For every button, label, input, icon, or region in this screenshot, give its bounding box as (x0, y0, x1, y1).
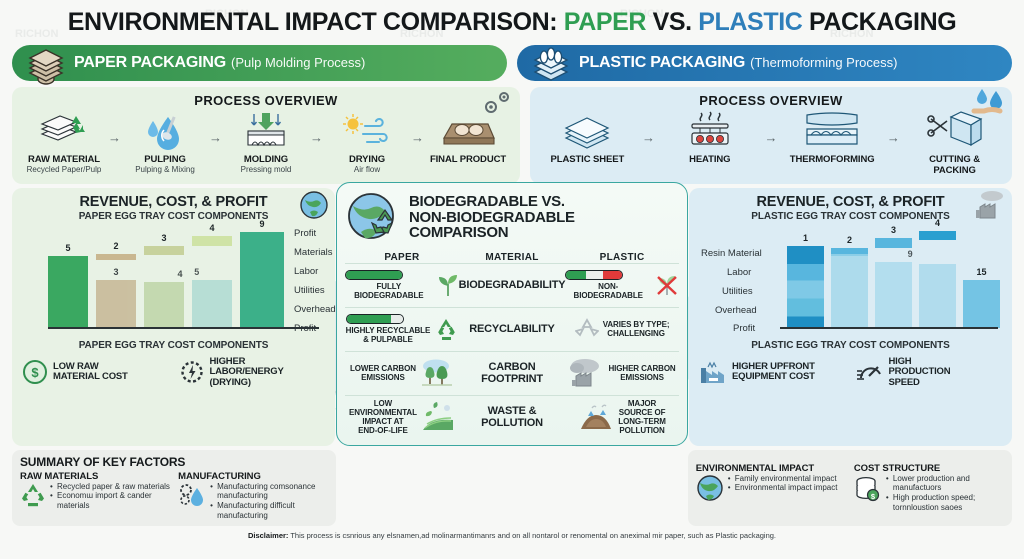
chart-bar: 15 (963, 280, 1000, 328)
plastic-revenue-panel: REVENUE, COST, & PROFIT PLASTIC EGG TRAY… (689, 188, 1012, 446)
material-label: RECYCLABILITY (459, 323, 565, 335)
legend-item: Resin Material (701, 248, 762, 259)
process-step: THERMOFORMING (788, 110, 876, 165)
plastic-cell-text: MAJOR SOURCE OF LONG-TERM POLLUTION (618, 399, 666, 436)
legend-item: Materials (294, 247, 333, 258)
comparison-row: FULLY BIODEGRADABLE BIODEGRADABILITY (345, 263, 679, 307)
summary-item: Manufacturing comsonance manufacturing (210, 482, 328, 502)
process-step-sub: Pressing mold (222, 165, 310, 174)
globe-icon (299, 190, 329, 220)
process-step-label: HEATING (666, 154, 754, 165)
bar-value: 4 (177, 269, 182, 279)
bar-value: 5 (65, 243, 70, 253)
plastic-feature-text: HIGH PRODUCTION SPEED (889, 357, 951, 389)
process-step: PULPING Pulping & Mixing (121, 110, 209, 174)
column-header-material: MATERIAL (459, 252, 565, 263)
column-header-paper: PAPER (345, 252, 459, 263)
process-step: RAW MATERIAL Recycled Paper/Pulp (20, 110, 108, 174)
paper-feature-text: LOW RAW MATERIAL COST (53, 362, 128, 383)
summary-item: Environmental impact impact (728, 483, 838, 493)
paper-revenue-heading: REVENUE, COST, & PROFIT (18, 194, 329, 210)
plastic-process-heading: PROCESS OVERVIEW (538, 93, 1004, 108)
comparison-row: LOW ENVIRONMENTAL IMPACT AT END-OF-LIFE … (345, 395, 679, 439)
plastic-chart-caption: PLASTIC EGG TRAY COST COMPONENTS (695, 340, 1006, 351)
summary-item: Economɯ import & cander materials (50, 491, 170, 511)
paper-cell-text: HIGHLY RECYCLABLE & PULPABLE (346, 326, 431, 344)
plastic-banner-subtitle: (Thermoforming Process) (750, 55, 897, 70)
process-step-label: CUTTING & PACKING (911, 154, 999, 176)
chart-bar: 4 (919, 231, 956, 240)
plastic-meter (565, 270, 623, 280)
title-part2: PACKAGING (802, 8, 956, 36)
title-paper: PAPER (564, 8, 646, 36)
arrow-icon: → (310, 110, 323, 145)
material-label: BIODEGRADABILITY (459, 279, 566, 291)
bar-value: 5 (194, 267, 199, 277)
bar-value: 9 (259, 219, 264, 229)
comparison-title-3: COMPARISON (409, 225, 575, 241)
chart-bar (919, 264, 956, 328)
egg-tray-stack-icon (24, 39, 68, 87)
bar-value: 15 (976, 267, 986, 277)
gears-drop-icon (178, 482, 206, 508)
bar-value: 2 (847, 235, 852, 245)
recycle-icon (434, 317, 458, 341)
speed-gauge-icon (856, 359, 884, 385)
middle-band: REVENUE, COST, & PROFIT PAPER EGG TRAY C… (0, 184, 1024, 446)
arrow-icon: → (764, 110, 777, 145)
comparison-card: BIODEGRADABLE VS. NON-BIODEGRADABLE COMP… (336, 182, 688, 446)
chart-bar: 4 (192, 236, 232, 246)
summary-group: ENVIRONMENTAL IMPACT Family environmenta… (696, 463, 846, 513)
legend-item: Utilities (722, 286, 753, 297)
legend-item: Profit (294, 323, 316, 334)
legend-item: Labor (727, 267, 751, 278)
heater-coils-icon (666, 110, 754, 154)
process-row: PROCESS OVERVIEW RAW MATERIAL (0, 81, 1024, 184)
process-step: PLASTIC SHEET (543, 110, 631, 165)
banner-row: PAPER PACKAGING (Pulp Molding Process) P… (0, 37, 1024, 81)
process-step-label: MOLDING (222, 154, 310, 165)
no-plant-icon (655, 273, 679, 297)
summary-row: SUMMARY OF KEY FACTORS RAW MATERIALS (0, 446, 1024, 526)
comparison-title-1: BIODEGRADABLE VS. (409, 194, 575, 210)
legend-item: Utilities (294, 285, 325, 296)
coin-stack-icon: $ (854, 474, 882, 502)
sun-airflow-icon (323, 110, 411, 154)
process-step-label: THERMOFORMING (788, 154, 876, 165)
legend-item: Labor (294, 266, 318, 277)
summary-group-heading: ENVIRONMENTAL IMPACT (696, 463, 846, 474)
press-mold-arrows-icon (222, 110, 310, 154)
plastic-process-panel: PROCESS OVERVIEW PLASTIC SHEET (530, 87, 1012, 184)
plastic-feature: HIGHER UPFRONT EQUIPMENT COST (699, 357, 846, 389)
chart-bar: 2 (96, 254, 136, 260)
process-step: HEATING (666, 110, 754, 165)
comparison-row: HIGHLY RECYCLABLE & PULPABLE (345, 307, 679, 351)
gear-energy-icon (179, 359, 205, 385)
paper-meter (346, 314, 404, 324)
gears-icon (480, 89, 514, 119)
paper-feature: $ LOW RAW MATERIAL COST (22, 357, 169, 389)
plastic-banner: PLASTIC PACKAGING (Thermoforming Process… (517, 45, 1012, 81)
paper-cell-text: LOWER CARBON EMISSIONS (350, 364, 416, 382)
title-mid: VS. (646, 8, 698, 36)
bar-value: 4 (209, 223, 214, 233)
bar-value: 9 (908, 249, 913, 259)
chart-axis (48, 327, 319, 329)
summary-group: RAW MATERIALS (20, 471, 170, 521)
plastic-sheet-icon (543, 110, 631, 154)
process-step-label: RAW MATERIAL (20, 154, 108, 165)
disclaimer: Disclaimer: This process is csnrious any… (0, 526, 1024, 540)
water-drop-mixer-icon (121, 110, 209, 154)
plastic-chart: Resin Material Labor Utilities Overhead … (695, 226, 1006, 338)
leaf-icon (437, 273, 459, 297)
title-part1: ENVIRONMENTAL IMPACT COMPARISON: (68, 8, 564, 36)
recycle-grey-icon (575, 317, 599, 341)
summary-center-spacer (339, 450, 685, 526)
paper-chart-caption: PAPER EGG TRAY COST COMPONENTS (18, 340, 329, 351)
bar-value: 3 (161, 233, 166, 243)
bar-value: 3 (891, 225, 896, 235)
plastic-feature-text: HIGHER UPFRONT EQUIPMENT COST (732, 362, 815, 383)
process-step-label: PULPING (121, 154, 209, 165)
thermoform-mold-icon (788, 110, 876, 154)
paper-meter (345, 270, 403, 280)
bar-value: 4 (935, 218, 940, 228)
plastic-revenue-subheading: PLASTIC EGG TRAY COST COMPONENTS (695, 211, 1006, 222)
summary-left-panel: SUMMARY OF KEY FACTORS RAW MATERIALS (12, 450, 336, 526)
water-drop-hand-icon (968, 87, 1008, 121)
bar-value: 1 (803, 233, 808, 243)
chart-bar: 5 (192, 280, 232, 328)
paper-banner-title: PAPER PACKAGING (74, 54, 226, 72)
disclaimer-text: This process is csnrious any elsnamen,ad… (288, 531, 776, 540)
paper-banner-subtitle: (Pulp Molding Process) (231, 55, 365, 70)
summary-item: Recycled paper & raw materials (50, 482, 170, 492)
paper-process-panel: PROCESS OVERVIEW RAW MATERIAL (12, 87, 520, 184)
chart-axis (780, 327, 998, 329)
paper-stack-recycle-icon (20, 110, 108, 154)
arrow-icon: → (642, 110, 655, 145)
summary-group: MANUFACTURING Manufacturing comsonance m… (178, 471, 328, 521)
globe-recycle-icon (345, 190, 403, 246)
chart-bar: 9 (875, 262, 912, 328)
summary-group-heading: MANUFACTURING (178, 471, 328, 482)
chart-bar: 9 (240, 232, 284, 328)
legend-item: Profit (733, 323, 755, 334)
arrow-icon: → (887, 110, 900, 145)
legend-item: Overhead (715, 305, 757, 316)
process-step-sub: Air flow (323, 165, 411, 174)
plastic-banner-title: PLASTIC PACKAGING (579, 54, 745, 72)
summary-group-heading: COST STRUCTURE (854, 463, 1004, 474)
bar-value: 2 (113, 241, 118, 251)
plastic-revenue-heading: REVENUE, COST, & PROFIT (695, 194, 1006, 210)
paper-revenue-subheading: PAPER EGG TRAY COST COMPONENTS (18, 211, 329, 222)
green-field-icon (421, 402, 455, 432)
dollar-coin-icon: $ (22, 359, 48, 385)
process-step-label: FINAL PRODUCT (424, 154, 512, 165)
comparison-row: LOWER CARBON EMISSIONS CARBON FOOTPRINT (345, 351, 679, 395)
paper-revenue-panel: REVENUE, COST, & PROFIT PAPER EGG TRAY C… (12, 188, 335, 446)
svg-text:$: $ (31, 365, 39, 380)
landfill-icon (578, 402, 614, 432)
disclaimer-label: Disclaimer: (248, 531, 288, 540)
chart-bar (831, 254, 868, 328)
summary-item: Family environmental impact (728, 474, 838, 484)
smoke-factory-icon (568, 358, 604, 388)
paper-feature: HIGHER LABOR/ENERGY (DRYING) (179, 357, 326, 389)
summary-right-panel: ENVIRONMENTAL IMPACT Family environmenta… (688, 450, 1012, 526)
globe-icon (696, 474, 724, 502)
summary-item: Manufacturing difficult manufacturing (210, 501, 328, 521)
plastic-egg-tray-icon (529, 39, 573, 87)
chart-bar: 4 (144, 282, 184, 328)
chart-bar: 1 (787, 246, 824, 328)
arrow-icon: → (209, 110, 222, 145)
arrow-icon: → (108, 110, 121, 145)
paper-cell-text: LOW ENVIRONMENTAL IMPACT AT END-OF-LIFE (349, 399, 417, 436)
trees-cloud-icon (420, 358, 454, 388)
process-step-label: PLASTIC SHEET (543, 154, 631, 165)
paper-cell-text: FULLY BIODEGRADABLE (345, 282, 433, 300)
recycle-icon (20, 482, 46, 508)
factory-smoke-icon (972, 190, 1006, 220)
paper-chart: 5 2 3 3 4 (18, 226, 329, 338)
paper-feature-text: HIGHER LABOR/ENERGY (DRYING) (210, 357, 284, 389)
plastic-cell-text: VARIES BY TYPE; CHALLENGING (603, 320, 670, 338)
chart-bar: 3 (96, 280, 136, 328)
plastic-cell-text: HIGHER CARBON EMISSIONS (608, 364, 675, 382)
summary-item: High production speed; tornnloustion sao… (886, 493, 1004, 513)
legend-item: Overhead (294, 304, 336, 315)
chart-bar: 3 (875, 238, 912, 248)
process-step-sub: Pulping & Mixing (121, 165, 209, 174)
process-step: MOLDING Pressing mold (222, 110, 310, 174)
process-step-sub: Recycled Paper/Pulp (20, 165, 108, 174)
plastic-cell-text: NON-BIODEGRADABLE (565, 282, 651, 300)
summary-item: Lower production and manufactuors (886, 474, 1004, 494)
bar-value: 3 (113, 267, 118, 277)
summary-group-heading: RAW MATERIALS (20, 471, 170, 482)
chart-bar: 5 (48, 256, 88, 328)
page-title: ENVIRONMENTAL IMPACT COMPARISON: PAPER V… (0, 0, 1024, 37)
paper-process-heading: PROCESS OVERVIEW (20, 93, 512, 108)
arrow-icon: → (411, 110, 424, 145)
plastic-feature: HIGH PRODUCTION SPEED (856, 357, 1003, 389)
process-step: DRYING Air flow (323, 110, 411, 174)
summary-title: SUMMARY OF KEY FACTORS (20, 455, 328, 469)
paper-banner: PAPER PACKAGING (Pulp Molding Process) (12, 45, 507, 81)
material-label: CARBON FOOTPRINT (459, 361, 565, 385)
summary-group: COST STRUCTURE $ (854, 463, 1004, 513)
title-plastic: PLASTIC (698, 8, 802, 36)
factory-icon (699, 359, 727, 385)
legend-item: Profit (294, 228, 316, 239)
column-header-plastic: PLASTIC (565, 252, 679, 263)
chart-bar: 3 (144, 246, 184, 255)
comparison-title-2: NON-BIODEGRADABLE (409, 210, 575, 226)
process-step-label: DRYING (323, 154, 411, 165)
material-label: WASTE & POLLUTION (459, 405, 565, 429)
